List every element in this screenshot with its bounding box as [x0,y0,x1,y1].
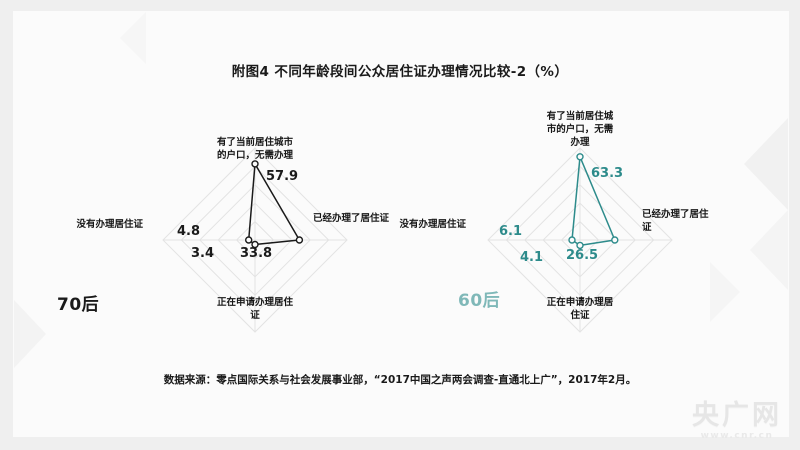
decorative-triangle-icon [120,12,146,64]
watermark-logo-text: 央广网 [692,401,782,431]
source-note: 数据来源：零点国际关系与社会发展事业部，“2017中国之声两会调查-直通北上广”… [0,372,800,387]
radar-axis-label-left: 没有办理居住证 [43,218,143,231]
watermark: 央广网 www.cnr.cn [692,401,782,442]
radar-data-point [577,154,583,160]
radar-value-label-bottom: 3.4 [191,246,214,261]
series-name-70s: 70后 [57,290,99,315]
radar-axis-label-top: 有了当前居住城市 的户口，无需办理 [217,136,293,162]
radar-data-point [612,237,618,243]
radar-axis-label-left: 没有办理居住证 [362,218,466,231]
decorative-triangle-icon [744,118,788,210]
radar-data-point [246,237,252,243]
radar-data-point [569,237,575,243]
radar-value-label-left: 4.8 [177,224,200,239]
slide-canvas: 附图4 不同年龄段间公众居住证办理情况比较-2（%） 有了当前居住城市 的户口，… [0,0,800,450]
series-name-60s: 60后 [458,286,500,311]
decorative-triangle-icon [14,300,46,368]
radar-value-label-top: 63.3 [591,166,623,181]
radar-axis-label-bottom: 正在申请办理居 住证 [547,296,614,322]
radar-value-label-bottom: 4.1 [520,250,543,265]
radar-value-label-right: 33.8 [240,246,272,261]
radar-value-label-left: 6.1 [499,224,522,239]
radar-value-label-right: 26.5 [566,248,598,263]
page-title: 附图4 不同年龄段间公众居住证办理情况比较-2（%） [0,60,800,80]
radar-axis-label-bottom: 正在申请办理居住 证 [217,296,293,322]
radar-data-point [296,237,302,243]
watermark-url: www.cnr.cn [692,431,782,442]
radar-axis-label-top: 有了当前居住城 市的户口，无需 办理 [547,110,614,149]
radar-axis-label-right: 已经办理了居住 证 [642,208,734,234]
decorative-triangle-icon [750,210,788,290]
radar-chart-60s: 有了当前居住城 市的户口，无需 办理 已经办理了居住 证 正在申请办理居 住证 … [420,100,740,350]
radar-value-label-top: 57.9 [266,169,298,184]
